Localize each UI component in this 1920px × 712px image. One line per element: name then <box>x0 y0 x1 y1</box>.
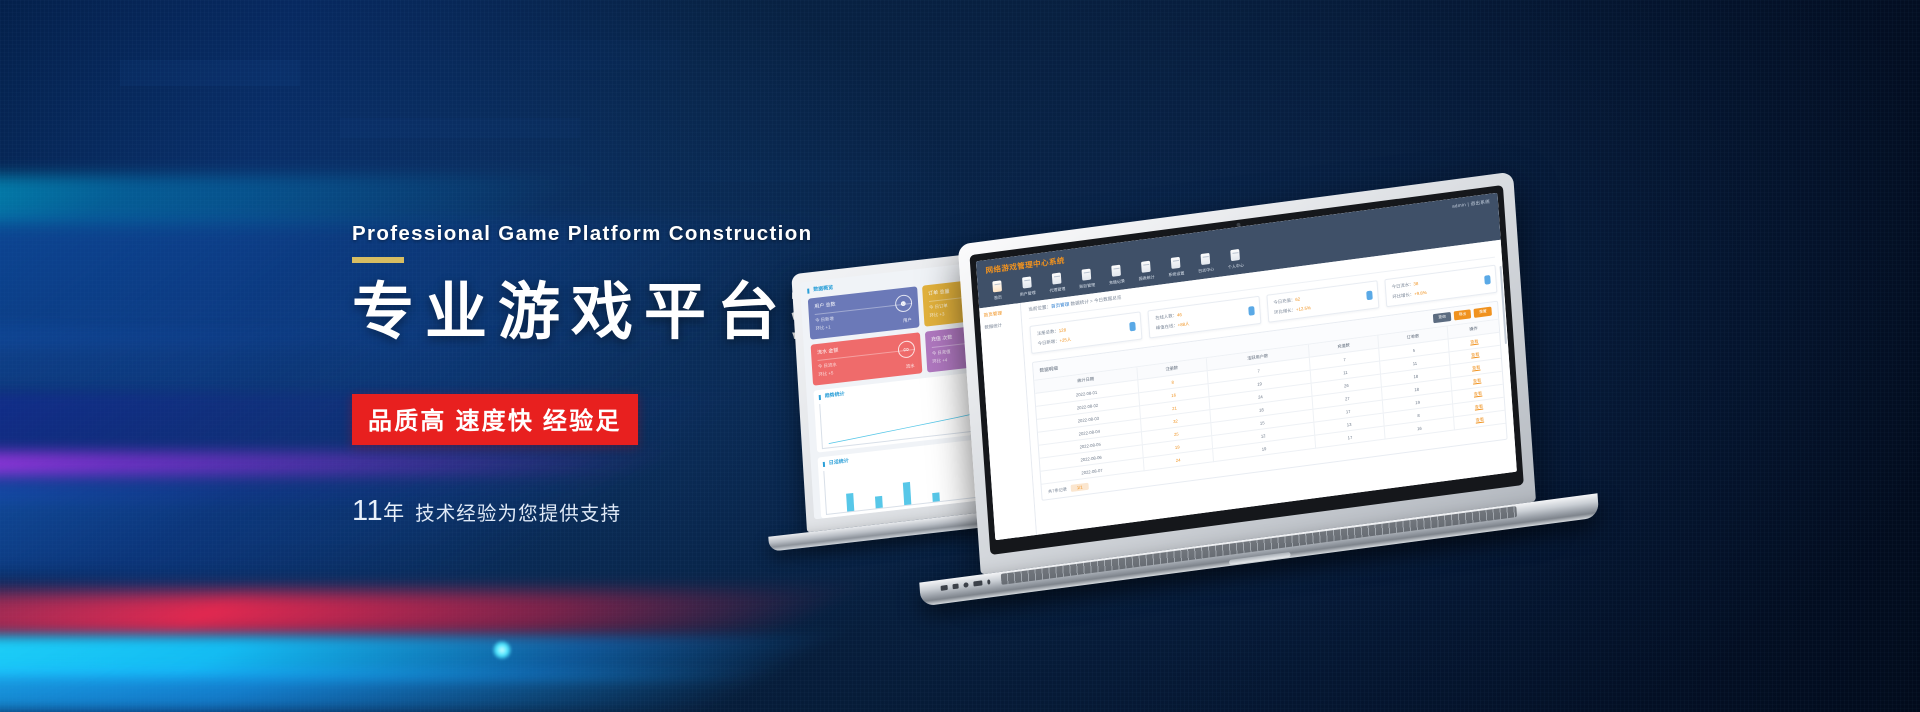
toolbar-label: 个人中心 <box>1227 262 1244 270</box>
gear-icon <box>1171 257 1181 269</box>
kpi-label: 用户 <box>903 317 912 324</box>
status-badge: 品质高 速度快 经验足 <box>352 394 638 445</box>
stat-label: 注册总数： <box>1037 328 1059 336</box>
beam-cyan-bottom <box>0 672 788 712</box>
user-icon <box>1130 322 1137 332</box>
stat-value: +12.5% <box>1296 305 1311 312</box>
breadcrumb-prefix: 当前位置： <box>1028 304 1051 312</box>
stat-value: 128 <box>1059 327 1067 333</box>
toolbar-item-users[interactable]: 用户管理 <box>1018 276 1036 298</box>
stat-value: +25人 <box>1059 337 1071 344</box>
stat-card[interactable]: 注册总数：128 今日新增：+25人 <box>1029 311 1142 354</box>
stat-value: +9.8% <box>1414 290 1427 297</box>
toolbar-item-settings[interactable]: 系统设置 <box>1167 256 1185 278</box>
breadcrumb-suffix: 数据统计 > 今日数据总览 <box>1070 295 1121 307</box>
kpi-label: 流水 <box>906 363 915 370</box>
table-caption: 数据明细 <box>1039 365 1058 373</box>
years-number: 11 <box>352 495 383 527</box>
pay-icon <box>1366 290 1373 300</box>
home-icon <box>992 280 1002 292</box>
trackpad-notch <box>1229 552 1291 565</box>
export-button[interactable]: 导出 <box>1453 309 1471 320</box>
stat-value: +88人 <box>1178 321 1190 328</box>
beam-red <box>0 592 858 636</box>
stat-value: 62 <box>1295 296 1300 302</box>
toolbar-label: 用户管理 <box>1019 290 1036 298</box>
stat-card[interactable]: 今日流水：38 环比增长：+9.8% <box>1384 265 1497 308</box>
chart-panel: 趋势统计 <box>813 372 983 452</box>
toolbar-item-agents[interactable]: 代理管理 <box>1048 272 1066 294</box>
toolbar-item-logs[interactable]: 日志中心 <box>1197 252 1215 274</box>
stat-label: 今日新增： <box>1038 338 1060 346</box>
beam-cyan-upper <box>0 176 593 228</box>
chart-panel: 日活统计 <box>817 438 987 518</box>
ports <box>940 579 990 591</box>
admin-app: admin | 退出系统 网络游戏管理中心系统 首页 用户管理 代理管理 账目管… <box>976 193 1517 540</box>
glow-dot <box>492 640 512 660</box>
money-icon <box>1484 275 1491 285</box>
toolbar-item-reports[interactable]: 报表统计 <box>1137 260 1155 282</box>
stat-value: 46 <box>1177 312 1182 318</box>
toolbar-label: 系统设置 <box>1168 270 1185 278</box>
kpi-card[interactable]: 用户 总数 今 日新增 环比 +1 ☻ 用户 <box>808 286 919 339</box>
toolbar-label: 日志中心 <box>1198 266 1215 274</box>
hero-banner: Professional Game Platform Construction … <box>0 0 1920 712</box>
bar-series <box>831 467 975 514</box>
stat-label: 峰值在线： <box>1156 323 1178 331</box>
laptop-front: admin | 退出系统 网络游戏管理中心系统 首页 用户管理 代理管理 账目管… <box>958 172 1543 665</box>
toolbar-label: 充值记录 <box>1108 278 1125 286</box>
stat-label: 在线人数： <box>1155 313 1177 321</box>
stat-label: 今日流水： <box>1391 282 1413 290</box>
pagination[interactable]: 1/1 <box>1071 483 1089 492</box>
stat-card[interactable]: 在线人数：46 峰值在线：+88人 <box>1148 296 1261 339</box>
stat-label: 环比增长： <box>1392 292 1414 300</box>
sidebar-item-home-admin[interactable]: 首页管理 <box>984 309 1017 319</box>
online-icon <box>1248 306 1255 316</box>
reset-button[interactable]: 重置 <box>1474 307 1492 318</box>
record-count: 共7条记录 <box>1048 487 1067 494</box>
toolbar-item-payments[interactable]: 充值记录 <box>1107 264 1125 286</box>
laptop-group: 数据概览 用户 总数 今 日新增 环比 +1 ☻ 用户 <box>770 230 1920 650</box>
line-series <box>827 400 971 447</box>
toolbar-label: 账目管理 <box>1079 282 1096 290</box>
doc-icon <box>1082 269 1092 281</box>
toolbar-item-accounts[interactable]: 账目管理 <box>1078 268 1096 290</box>
laptop-front-screen: admin | 退出系统 网络游戏管理中心系统 首页 用户管理 代理管理 账目管… <box>976 193 1517 540</box>
sidebar-item-stats[interactable]: 数据统计 <box>984 321 1017 331</box>
log-icon <box>1201 253 1211 265</box>
toolbar-label: 代理管理 <box>1049 286 1066 294</box>
toolbar-item-home[interactable]: 首页 <box>988 280 1006 302</box>
agent-icon <box>1052 272 1062 284</box>
stat-value: 38 <box>1413 281 1418 287</box>
stat-label: 今日充值： <box>1273 297 1295 305</box>
gold-rule <box>352 257 404 263</box>
stat-label: 环比增长： <box>1274 307 1296 315</box>
experience-text: 技术经验为您提供支持 <box>415 503 621 525</box>
pay-icon <box>1111 265 1121 277</box>
laptop-front-bezel: admin | 退出系统 网络游戏管理中心系统 首页 用户管理 代理管理 账目管… <box>969 185 1523 555</box>
search-button[interactable]: 查询 <box>1433 312 1451 323</box>
profile-icon <box>1230 249 1240 261</box>
user-icon <box>1022 276 1032 288</box>
toolbar-label: 首页 <box>989 294 1006 302</box>
years-unit: 年 <box>383 502 404 525</box>
toolbar-label: 报表统计 <box>1138 274 1155 282</box>
kpi-card[interactable]: 流水 金额 今 日流水 环比 +5 ∞ 流水 <box>811 332 922 385</box>
breadcrumb-link[interactable]: 首页管理 <box>1051 302 1070 309</box>
toolbar-item-profile[interactable]: 个人中心 <box>1226 248 1244 270</box>
chart-icon <box>1141 261 1151 273</box>
stat-card[interactable]: 今日充值：62 环比增长：+12.5% <box>1266 280 1379 323</box>
